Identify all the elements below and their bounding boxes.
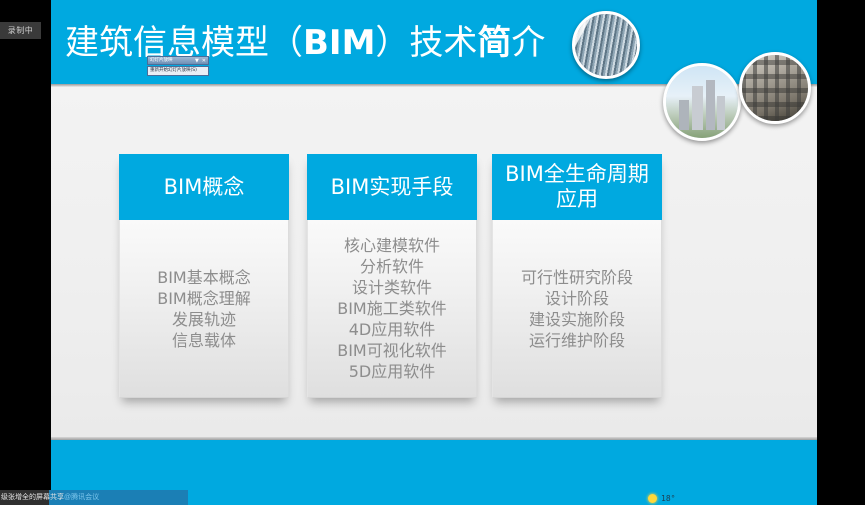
list-item: BIM施工类软件 [337, 298, 447, 319]
skyline-building-4 [717, 96, 725, 130]
stone-building-photo [739, 52, 811, 124]
recording-badge: 录制中 [0, 22, 41, 39]
list-item: 4D应用软件 [349, 319, 436, 340]
skyline-building-3 [679, 100, 689, 130]
close-icon[interactable]: ✕ [202, 58, 206, 64]
glass-tower-photo [572, 11, 640, 79]
sun-icon [648, 494, 657, 503]
slide-title-bim: BIM [303, 23, 375, 63]
list-item: 可行性研究阶段 [521, 267, 633, 288]
letterbox-right [817, 0, 865, 505]
list-item: BIM概念理解 [157, 288, 251, 309]
list-item: 分析软件 [360, 256, 424, 277]
screen-capture: 建筑信息模型（BIM）技术简介 BIM概念 BIM基本概念 BIM概念理解 发展… [0, 0, 865, 505]
skyline-building-2 [706, 80, 715, 130]
powerpoint-slide: 建筑信息模型（BIM）技术简介 BIM概念 BIM基本概念 BIM概念理解 发展… [51, 0, 817, 505]
list-item: BIM基本概念 [157, 267, 251, 288]
card-title: BIM概念 [119, 154, 289, 220]
city-skyline-photo [663, 63, 741, 141]
slideshow-popup-toolbar[interactable]: 幻灯片放映 ▼ ✕ 重新开始幻灯片放映(S) [147, 56, 209, 76]
letterbox-left [0, 0, 51, 505]
city-skyline-image [666, 66, 738, 138]
list-item: 设计阶段 [545, 288, 609, 309]
screen-share-app-tag: @腾讯会议 [64, 494, 99, 501]
card-item-list: 可行性研究阶段 设计阶段 建设实施阶段 运行维护阶段 [492, 220, 662, 398]
stone-building-image [742, 55, 808, 121]
skyline-building-1 [692, 86, 703, 130]
content-card-bim-concept: BIM概念 BIM基本概念 BIM概念理解 发展轨迹 信息载体 [119, 154, 289, 398]
weather-temperature: 18° [661, 494, 675, 503]
slide-title-part-3: 介 [511, 23, 545, 63]
slideshow-popup-title: 幻灯片放映 [150, 57, 195, 64]
weather-widget[interactable]: 18° [648, 494, 675, 503]
card-title: BIM全生命周期应用 [492, 154, 662, 220]
slide-title-emphasis: 简 [477, 23, 511, 63]
screen-share-label: 级张增全的屏幕共享 [1, 494, 64, 501]
card-item-list: BIM基本概念 BIM概念理解 发展轨迹 信息载体 [119, 220, 289, 398]
list-item: 发展轨迹 [172, 309, 236, 330]
list-item: 信息载体 [172, 330, 236, 351]
card-item-list: 核心建模软件 分析软件 设计类软件 BIM施工类软件 4D应用软件 BIM可视化… [307, 220, 477, 398]
list-item: 核心建模软件 [344, 235, 440, 256]
slide-title-part-2: ）技术 [375, 23, 477, 63]
menu-item-restart-slideshow[interactable]: 重新开始幻灯片放映(S) [147, 66, 209, 76]
slideshow-popup-titlebar[interactable]: 幻灯片放映 ▼ ✕ [147, 56, 209, 65]
chevron-down-icon[interactable]: ▼ [195, 58, 199, 64]
screen-share-taskbar-item[interactable]: 级张增全的屏幕共享@腾讯会议 [0, 490, 188, 505]
content-card-bim-methods: BIM实现手段 核心建模软件 分析软件 设计类软件 BIM施工类软件 4D应用软… [307, 154, 477, 398]
slide-title: 建筑信息模型（BIM）技术简介 [65, 16, 585, 70]
content-card-bim-lifecycle: BIM全生命周期应用 可行性研究阶段 设计阶段 建设实施阶段 运行维护阶段 [492, 154, 662, 398]
list-item: 建设实施阶段 [529, 309, 625, 330]
glass-tower-image [575, 14, 637, 76]
list-item: 设计类软件 [352, 277, 432, 298]
list-item: BIM可视化软件 [337, 340, 447, 361]
list-item: 运行维护阶段 [529, 330, 625, 351]
card-title: BIM实现手段 [307, 154, 477, 220]
list-item: 5D应用软件 [349, 361, 436, 382]
